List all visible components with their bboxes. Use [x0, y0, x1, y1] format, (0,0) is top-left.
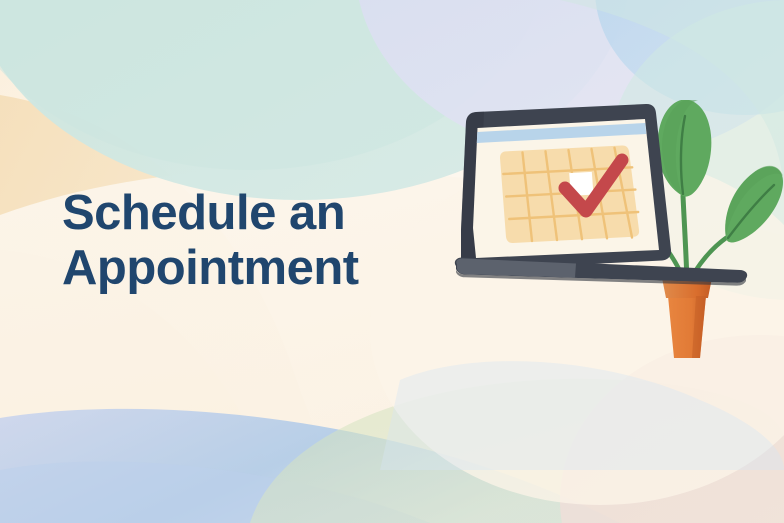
laptop-calendar-plant-illustration	[440, 100, 784, 390]
plant-pot	[662, 278, 712, 358]
plant-leaf-center	[657, 100, 711, 197]
page-title: Schedule an Appointment	[62, 186, 462, 297]
plant-leaf-right	[725, 166, 783, 243]
banner-graphic: Schedule an Appointment	[0, 0, 784, 523]
